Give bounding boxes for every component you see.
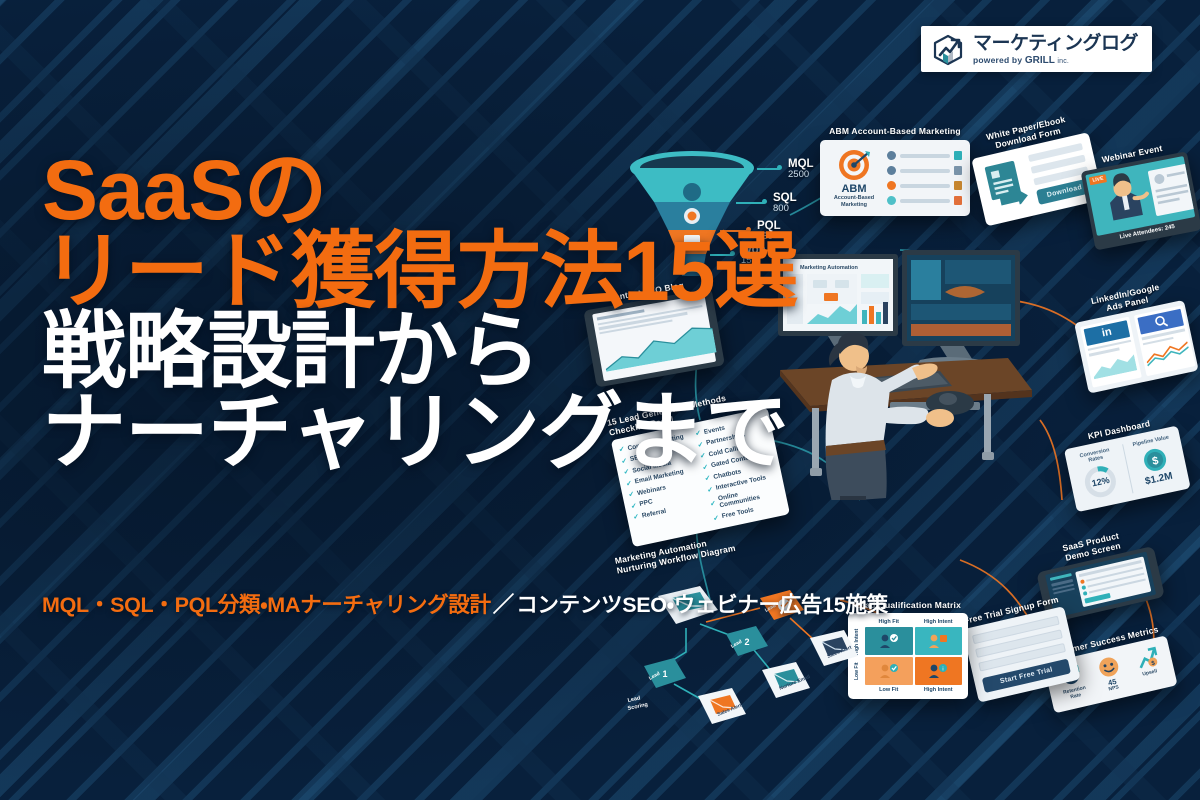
dollar-coin-icon: $	[1139, 445, 1170, 476]
success-metric-nps: 45 NPS	[1090, 653, 1131, 696]
workflow-node-lead1: 1	[644, 658, 686, 688]
kpi-conversion-value: 12%	[1079, 461, 1122, 504]
file-icon	[954, 196, 962, 205]
row-line	[900, 154, 950, 158]
flag-person-icon	[927, 633, 949, 649]
abm-caption: ABM Account-Based Marketing	[820, 126, 970, 136]
subtitle-separator: ／	[491, 588, 517, 619]
person-icon	[887, 196, 896, 205]
check-person-icon	[878, 663, 900, 679]
check-icon: ✔	[633, 513, 640, 522]
subtitle-row: MQL・SQL・PQL分類・MAナーチャリング設計 ／ コンテンツSEO・ウェビ…	[42, 588, 888, 619]
abm-panel: ABM Account-Based Marketing ABM Account-…	[820, 126, 970, 216]
info-person-icon: i	[927, 663, 949, 679]
folder-icon	[954, 181, 962, 190]
matrix-bottom-header-1: High Intent	[915, 687, 963, 693]
matrix-cell[interactable]: i	[915, 657, 963, 685]
linkedin-card[interactable]: in	[1080, 317, 1142, 388]
check-icon: ✔	[706, 485, 713, 494]
logo-inc: inc.	[1057, 58, 1069, 65]
growth-arrow-cube-icon	[931, 33, 965, 67]
abm-row	[887, 196, 962, 205]
logo-company: GRILL	[1025, 55, 1055, 66]
abm-badge-title: ABM	[828, 184, 880, 195]
logo-subtitle: powered by GRILL inc.	[973, 55, 1069, 66]
abm-badge-sub2: Marketing	[828, 202, 880, 209]
brand-logo[interactable]: マーケティングログ powered by GRILL inc.	[921, 26, 1152, 72]
headline-line-4: ナーチャリングまで	[42, 392, 797, 473]
workstation-illustration: Marketing Automation	[770, 250, 1040, 500]
svg-text:Marketing Automation: Marketing Automation	[800, 265, 858, 271]
desk-worker-icon: Marketing Automation	[770, 250, 1040, 500]
check-person-icon	[878, 633, 900, 649]
headline-line-2: リード獲得方法15選	[42, 231, 797, 312]
matrix-col-header-1: High Intent	[915, 619, 963, 625]
webinar-panel: Webinar Event LIVE	[1078, 139, 1200, 251]
check-icon: ✔	[709, 500, 716, 509]
row-line	[900, 184, 950, 188]
abm-row	[887, 151, 962, 160]
workflow-panel: Marketing Automation Nurturing Workflow …	[614, 556, 874, 735]
person-icon	[887, 166, 896, 175]
donut-chart-icon: 12%	[1079, 461, 1122, 504]
doc-icon	[954, 151, 962, 160]
subtitle-right: コンテンツSEO・ウェビナー広告15施策	[516, 588, 888, 619]
abm-badge-sub1: Account-Based	[828, 195, 880, 202]
abm-badge: ABM Account-Based Marketing	[828, 148, 880, 208]
headline-block: SaaSの リード獲得方法15選 戦略設計から ナーチャリングまで	[42, 150, 797, 473]
svg-text:1: 1	[662, 669, 667, 679]
hero-banner: MQL 2500 SQL 800 PQL 350 Won 150	[0, 0, 1200, 800]
kpi-conversion: Conversion Rates 12%	[1072, 446, 1126, 504]
row-line	[900, 199, 950, 203]
logo-title: マーケティングログ	[973, 34, 1138, 54]
matrix-cell[interactable]	[915, 627, 963, 655]
success-metric-upsell: $ Upsell	[1127, 644, 1168, 687]
workflow-node-lead2: 2	[726, 626, 768, 656]
svg-text:i: i	[943, 667, 944, 673]
abm-row	[887, 166, 962, 175]
abm-row	[887, 181, 962, 190]
check-icon: ✔	[630, 502, 637, 511]
svg-text:2: 2	[744, 637, 749, 647]
subtitle-left: MQL・SQL・PQL分類・MAナーチャリング設計	[42, 588, 491, 619]
check-icon: ✔	[625, 479, 632, 488]
row-line	[900, 169, 950, 173]
kpi-pipeline: Pipeline Value $ $1.2M	[1129, 434, 1183, 492]
google-card[interactable]	[1134, 306, 1196, 377]
logo-powered: powered by	[973, 55, 1022, 65]
document-download-icon	[982, 157, 1032, 216]
mail-icon	[954, 166, 962, 175]
target-dartboard-icon	[837, 148, 871, 182]
headline-line-3: 戦略設計から	[42, 311, 797, 392]
logo-text-block: マーケティングログ powered by GRILL inc.	[973, 34, 1138, 67]
check-icon: ✔	[713, 514, 720, 523]
person-icon	[887, 151, 896, 160]
headline-line-1: SaaSの	[42, 150, 797, 231]
check-icon: ✔	[628, 490, 635, 499]
person-icon	[887, 181, 896, 190]
